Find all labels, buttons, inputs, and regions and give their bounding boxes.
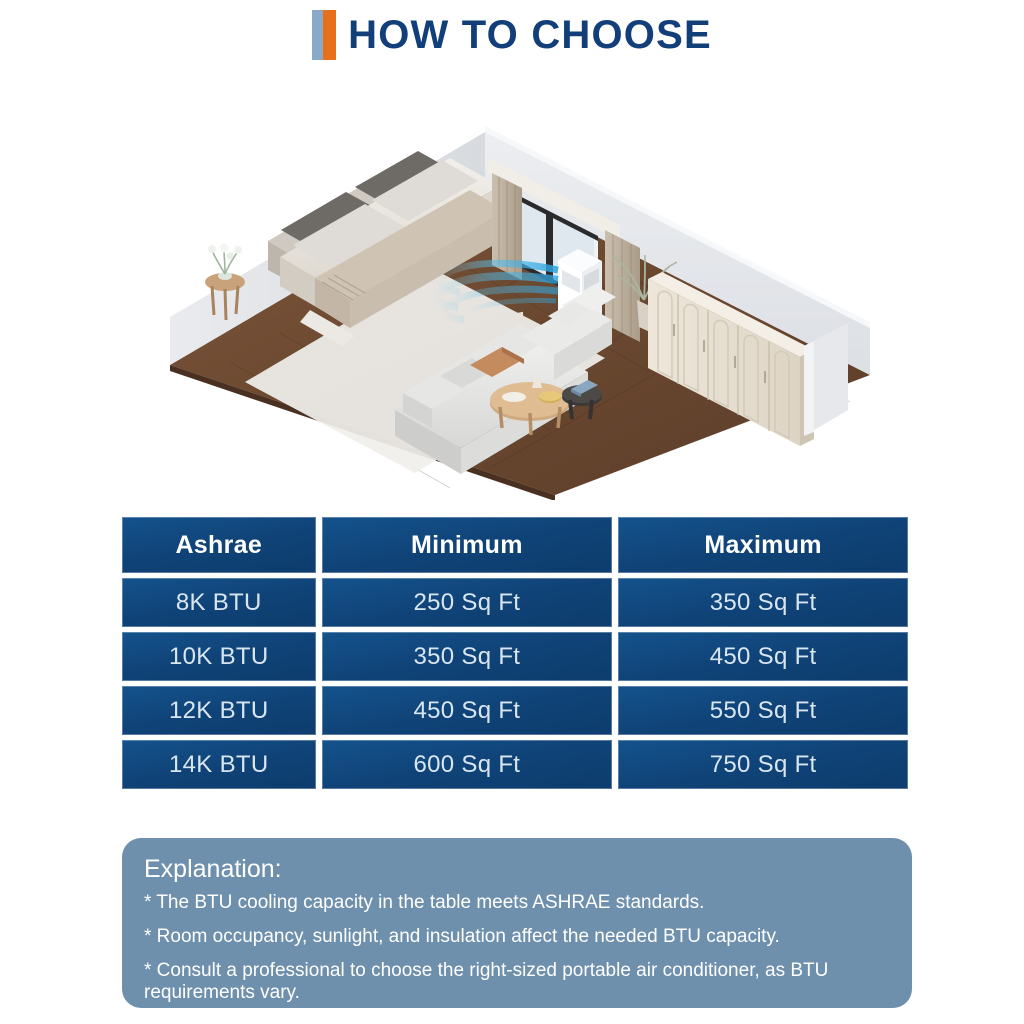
room-illustration	[150, 110, 890, 500]
explanation-box: Explanation: * The BTU cooling capacity …	[122, 838, 912, 1008]
cell-value: 350 Sq Ft	[710, 589, 817, 617]
cell-minimum: 600 Sq Ft	[322, 740, 613, 789]
page-title: HOW TO CHOOSE	[348, 10, 712, 60]
cell-value: 12K BTU	[169, 697, 268, 725]
cell-btu: 14K BTU	[122, 740, 316, 789]
cell-btu: 12K BTU	[122, 686, 316, 735]
explanation-title: Explanation:	[144, 852, 890, 886]
cell-maximum: 350 Sq Ft	[618, 578, 908, 627]
cell-maximum: 750 Sq Ft	[618, 740, 908, 789]
table-header-row: Ashrae Minimum Maximum	[122, 517, 908, 573]
cell-value: 750 Sq Ft	[710, 751, 817, 779]
table-row: 12K BTU 450 Sq Ft 550 Sq Ft	[122, 686, 908, 735]
cell-maximum: 450 Sq Ft	[618, 632, 908, 681]
cell-value: 350 Sq Ft	[413, 643, 520, 671]
header-cell-ashrae: Ashrae	[122, 517, 316, 573]
cell-minimum: 450 Sq Ft	[322, 686, 613, 735]
cell-value: 550 Sq Ft	[710, 697, 817, 725]
accent-bar-orange-icon	[323, 10, 336, 60]
table-row: 8K BTU 250 Sq Ft 350 Sq Ft	[122, 578, 908, 627]
potted-plant-small	[208, 244, 242, 281]
cell-value: 450 Sq Ft	[710, 643, 817, 671]
header-label-maximum: Maximum	[704, 531, 821, 560]
accent-bar-blue-icon	[312, 10, 323, 60]
explanation-line-2: * Room occupancy, sunlight, and insulati…	[144, 926, 890, 948]
header-label-ashrae: Ashrae	[175, 531, 262, 560]
cell-maximum: 550 Sq Ft	[618, 686, 908, 735]
btu-sizing-table: Ashrae Minimum Maximum 8K BTU 250 Sq Ft …	[122, 517, 908, 789]
cell-btu: 10K BTU	[122, 632, 316, 681]
table-row: 10K BTU 350 Sq Ft 450 Sq Ft	[122, 632, 908, 681]
explanation-line-3: * Consult a professional to choose the r…	[144, 960, 890, 1004]
cell-value: 14K BTU	[169, 751, 268, 779]
table-row: 14K BTU 600 Sq Ft 750 Sq Ft	[122, 740, 908, 789]
cell-value: 600 Sq Ft	[413, 751, 520, 779]
cell-value: 8K BTU	[176, 589, 262, 617]
header-cell-minimum: Minimum	[322, 517, 613, 573]
header-label-minimum: Minimum	[411, 531, 523, 560]
cell-value: 10K BTU	[169, 643, 268, 671]
header-cell-maximum: Maximum	[618, 517, 908, 573]
cell-minimum: 250 Sq Ft	[322, 578, 613, 627]
page-title-bar: HOW TO CHOOSE	[0, 6, 1024, 64]
explanation-line-1: * The BTU cooling capacity in the table …	[144, 892, 890, 914]
cell-btu: 8K BTU	[122, 578, 316, 627]
cell-value: 450 Sq Ft	[413, 697, 520, 725]
isometric-room-svg	[150, 110, 890, 500]
cell-minimum: 350 Sq Ft	[322, 632, 613, 681]
title-accent-bars	[312, 10, 336, 60]
cell-value: 250 Sq Ft	[413, 589, 520, 617]
